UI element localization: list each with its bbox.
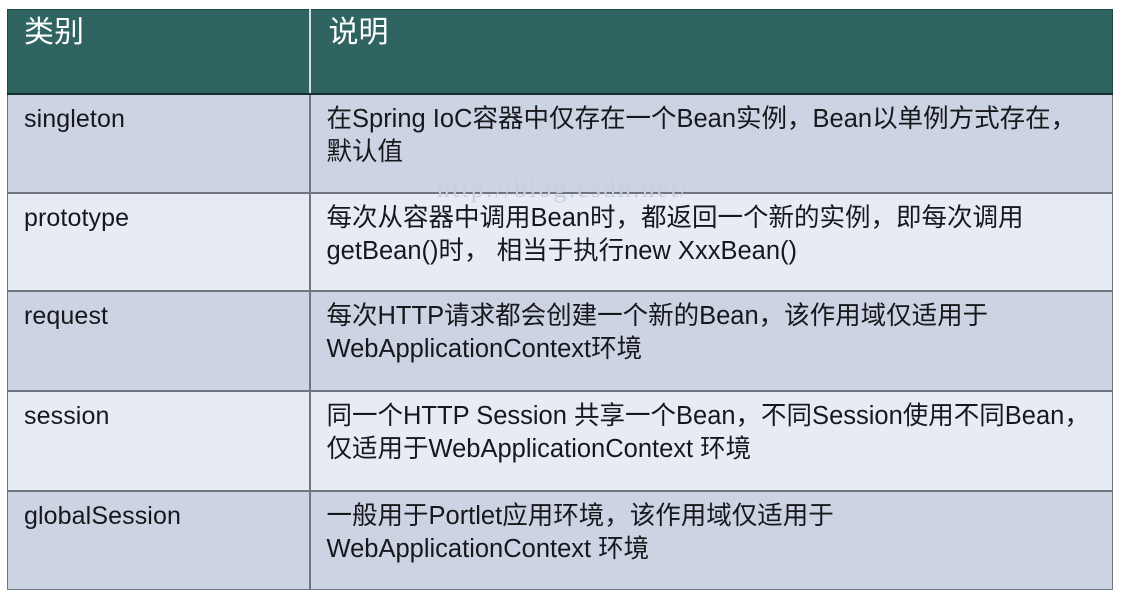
column-header-description: 说明 bbox=[310, 10, 1113, 94]
table-row: globalSession 一般用于Portlet应用环境，该作用域仅适用于 W… bbox=[8, 491, 1113, 590]
table-row: prototype 每次从容器中调用Bean时，都返回一个新的实例，即每次调用g… bbox=[8, 193, 1113, 291]
table-body: singleton 在Spring IoC容器中仅存在一个Bean实例，Bean… bbox=[8, 94, 1113, 590]
header-row: 类别 说明 bbox=[8, 10, 1113, 94]
cell-description: 一般用于Portlet应用环境，该作用域仅适用于 WebApplicationC… bbox=[310, 491, 1113, 590]
cell-category: request bbox=[8, 291, 310, 391]
cell-description: 在Spring IoC容器中仅存在一个Bean实例，Bean以单例方式存在，默认… bbox=[310, 94, 1113, 193]
table-row: singleton 在Spring IoC容器中仅存在一个Bean实例，Bean… bbox=[8, 94, 1113, 193]
cell-description: 每次从容器中调用Bean时，都返回一个新的实例，即每次调用getBean()时，… bbox=[310, 193, 1113, 291]
page-root: 类别 说明 singleton 在Spring IoC容器中仅存在一个Bean实… bbox=[0, 0, 1123, 608]
column-header-category: 类别 bbox=[8, 10, 310, 94]
table-row: request 每次HTTP请求都会创建一个新的Bean，该作用域仅适用于Web… bbox=[8, 291, 1113, 391]
cell-category: globalSession bbox=[8, 491, 310, 590]
cell-category: singleton bbox=[8, 94, 310, 193]
cell-description: 同一个HTTP Session 共享一个Bean，不同Session使用不同Be… bbox=[310, 391, 1113, 491]
bean-scope-table: 类别 说明 singleton 在Spring IoC容器中仅存在一个Bean实… bbox=[7, 9, 1113, 590]
table-row: session 同一个HTTP Session 共享一个Bean，不同Sessi… bbox=[8, 391, 1113, 491]
table-header: 类别 说明 bbox=[8, 10, 1113, 94]
cell-category: prototype bbox=[8, 193, 310, 291]
cell-category: session bbox=[8, 391, 310, 491]
cell-description: 每次HTTP请求都会创建一个新的Bean，该作用域仅适用于WebApplicat… bbox=[310, 291, 1113, 391]
